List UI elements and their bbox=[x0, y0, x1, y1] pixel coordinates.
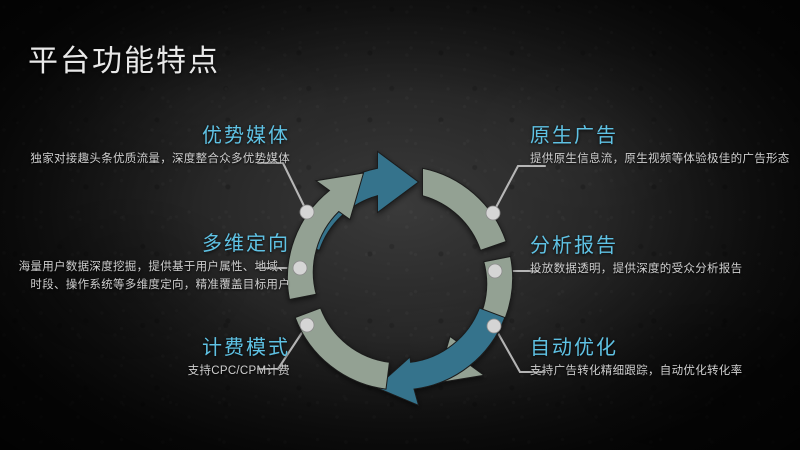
feature-block-zidongyouhua[interactable]: 自动优化 支持广告转化精细跟踪，自动优化转化率 bbox=[530, 336, 792, 381]
feature-block-fenxibaogao[interactable]: 分析报告 投放数据透明，提供深度的受众分析报告 bbox=[530, 234, 792, 279]
feature-heading: 优势媒体 bbox=[10, 124, 290, 149]
feature-heading: 原生广告 bbox=[530, 124, 792, 149]
feature-block-duoweidingxiang[interactable]: 多维定向 海量用户数据深度挖掘，提供基于用户属性、地域、时段、操作系统等多维度定… bbox=[10, 232, 290, 295]
slide-canvas: 平台功能特点 bbox=[0, 0, 800, 450]
feature-description: 提供原生信息流，原生视频等体验极佳的广告形态 bbox=[530, 151, 792, 169]
page-title: 平台功能特点 bbox=[28, 36, 220, 80]
feature-description: 海量用户数据深度挖掘，提供基于用户属性、地域、时段、操作系统等多维度定向，精准覆… bbox=[10, 259, 290, 295]
feature-heading: 计费模式 bbox=[10, 336, 290, 361]
feature-block-jifeimoshi[interactable]: 计费模式 支持CPC/CPM计费 bbox=[10, 336, 290, 381]
feature-description: 投放数据透明，提供深度的受众分析报告 bbox=[530, 261, 792, 279]
feature-block-yuanshengguanggao[interactable]: 原生广告 提供原生信息流，原生视频等体验极佳的广告形态 bbox=[530, 124, 792, 169]
feature-description: 支持广告转化精细跟踪，自动优化转化率 bbox=[530, 363, 792, 381]
feature-heading: 分析报告 bbox=[530, 234, 792, 259]
feature-description: 独家对接趣头条优质流量，深度整合众多优势媒体 bbox=[10, 151, 290, 169]
feature-description: 支持CPC/CPM计费 bbox=[10, 363, 290, 381]
feature-heading: 自动优化 bbox=[530, 336, 792, 361]
feature-heading: 多维定向 bbox=[10, 232, 290, 257]
feature-block-youshimeiti[interactable]: 优势媒体 独家对接趣头条优质流量，深度整合众多优势媒体 bbox=[10, 124, 290, 169]
